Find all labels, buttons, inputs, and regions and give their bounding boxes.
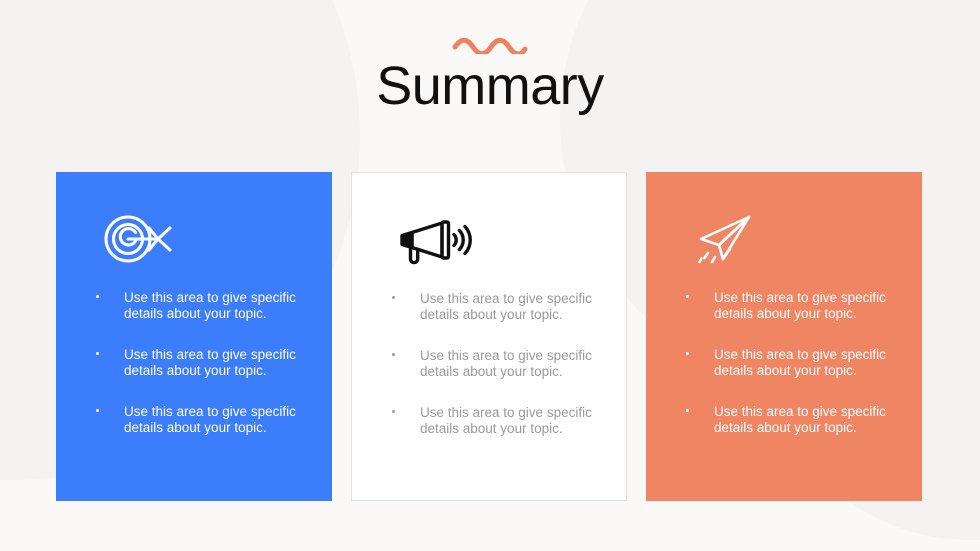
bullet-text: Use this area to give specific details a… <box>124 347 296 378</box>
summary-card-paper-plane[interactable]: Use this area to give specific details a… <box>646 172 922 501</box>
summary-card-megaphone[interactable]: Use this area to give specific details a… <box>351 172 627 501</box>
bullet-text: Use this area to give specific details a… <box>714 347 886 378</box>
bullet-dot-icon <box>392 410 395 413</box>
list-item: Use this area to give specific details a… <box>392 291 604 322</box>
bullet-text: Use this area to give specific details a… <box>420 348 592 379</box>
bullet-text: Use this area to give specific details a… <box>124 290 296 321</box>
bullet-dot-icon <box>392 353 395 356</box>
bullet-dot-icon <box>686 409 689 412</box>
list-item: Use this area to give specific details a… <box>686 347 900 378</box>
bullet-list: Use this area to give specific details a… <box>668 290 900 435</box>
card-icon-wrapper <box>374 203 604 277</box>
card-icon-wrapper <box>668 202 900 276</box>
bullet-text: Use this area to give specific details a… <box>124 404 296 435</box>
bullet-dot-icon <box>96 352 99 355</box>
list-item: Use this area to give specific details a… <box>96 404 310 435</box>
bullet-text: Use this area to give specific details a… <box>420 291 592 322</box>
slide-header: Summary <box>0 36 980 116</box>
bullet-text: Use this area to give specific details a… <box>420 405 592 436</box>
megaphone-icon <box>398 215 472 265</box>
bullet-dot-icon <box>686 295 689 298</box>
bullet-list: Use this area to give specific details a… <box>78 290 310 435</box>
list-item: Use this area to give specific details a… <box>392 405 604 436</box>
list-item: Use this area to give specific details a… <box>686 290 900 321</box>
paper-plane-icon <box>692 213 766 265</box>
bullet-dot-icon <box>96 295 99 298</box>
summary-cards-row: Use this area to give specific details a… <box>56 172 922 501</box>
summary-card-target[interactable]: Use this area to give specific details a… <box>56 172 332 501</box>
bullet-text: Use this area to give specific details a… <box>714 290 886 321</box>
bullet-list: Use this area to give specific details a… <box>374 291 604 436</box>
list-item: Use this area to give specific details a… <box>96 347 310 378</box>
target-arrow-icon <box>102 214 176 264</box>
list-item: Use this area to give specific details a… <box>686 404 900 435</box>
bullet-dot-icon <box>392 296 395 299</box>
bullet-dot-icon <box>96 409 99 412</box>
squiggle-accent-icon <box>452 36 528 54</box>
page-title: Summary <box>0 56 980 116</box>
list-item: Use this area to give specific details a… <box>392 348 604 379</box>
list-item: Use this area to give specific details a… <box>96 290 310 321</box>
bullet-text: Use this area to give specific details a… <box>714 404 886 435</box>
card-icon-wrapper <box>78 202 310 276</box>
bullet-dot-icon <box>686 352 689 355</box>
